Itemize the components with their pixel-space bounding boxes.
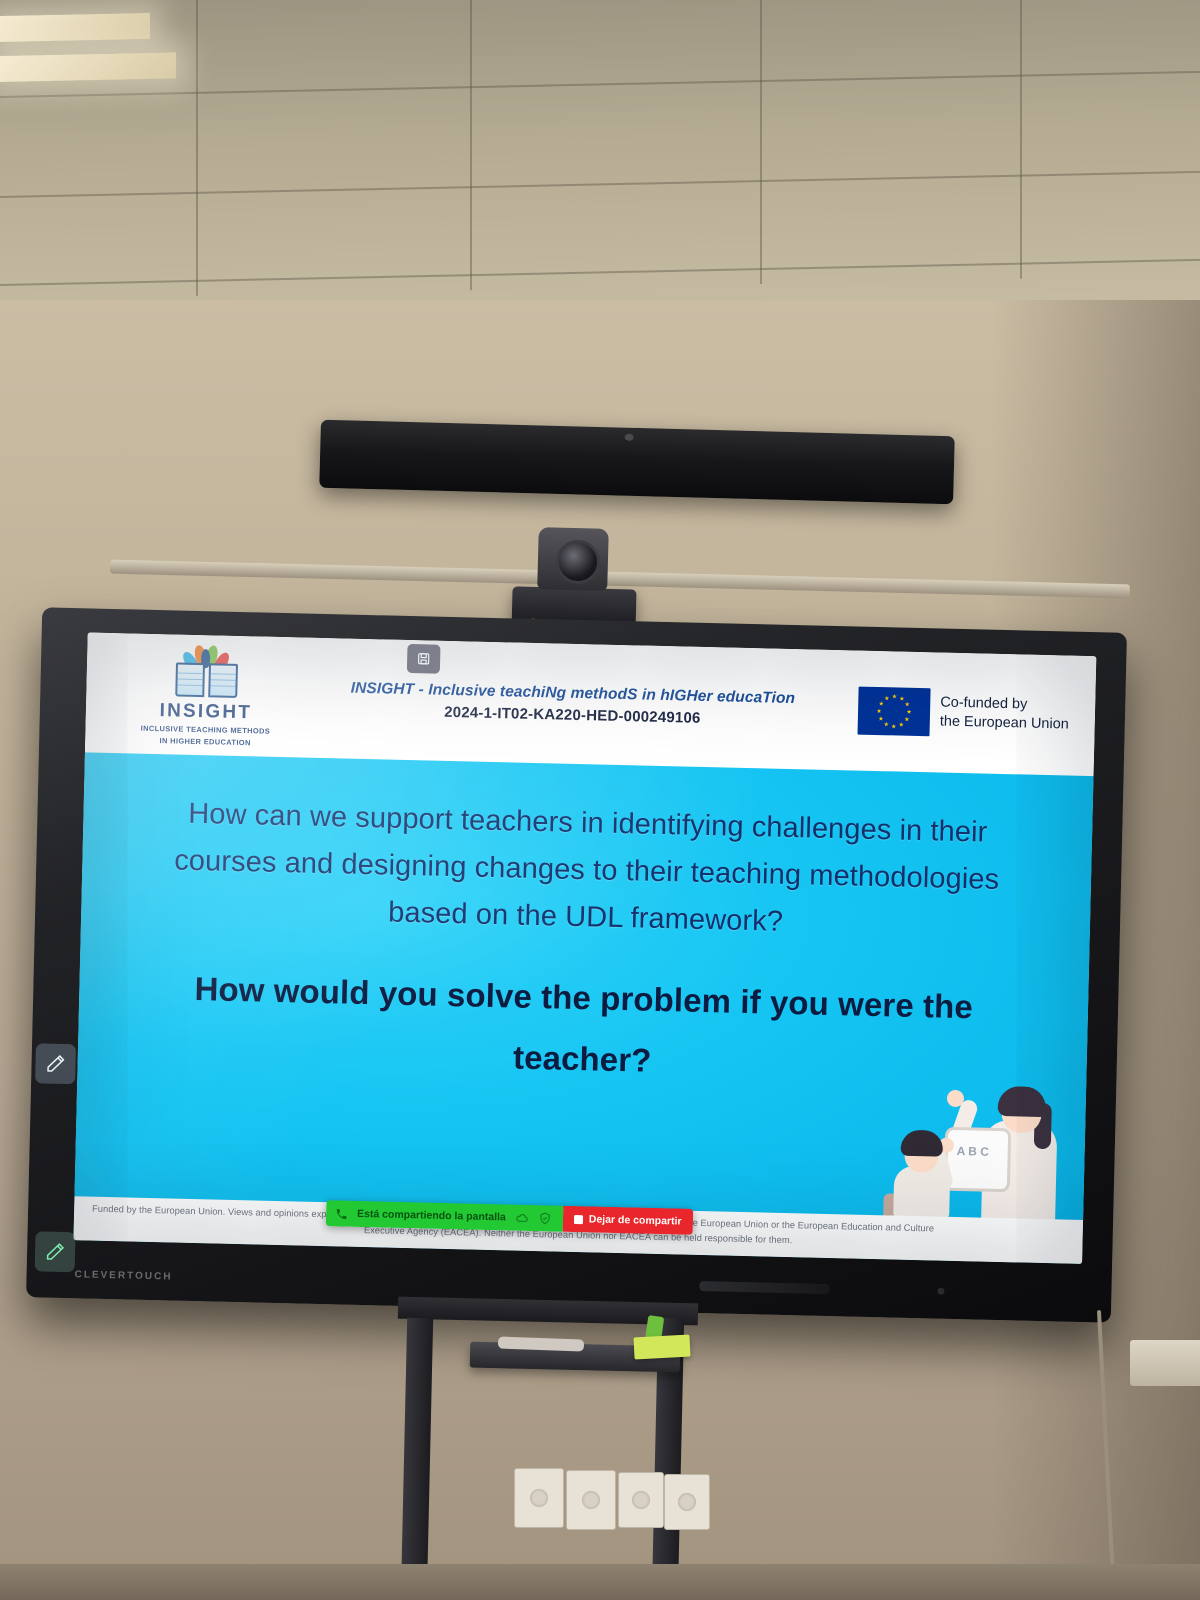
classroom-photo: CLEVERTOUCH <box>0 0 1200 1600</box>
wall-socket <box>514 1468 564 1528</box>
stop-square-icon <box>574 1215 583 1224</box>
question-context: How can we support teachers in identifyi… <box>139 790 1035 952</box>
phone-icon <box>335 1207 348 1220</box>
wall-side-panel <box>1130 1340 1200 1386</box>
interactive-display: CLEVERTOUCH <box>26 607 1127 1322</box>
cloud-icon[interactable] <box>515 1211 529 1225</box>
eu-star-icon <box>905 702 910 707</box>
stop-sharing-label: Dejar de compartir <box>589 1213 682 1227</box>
eu-star-icon <box>891 724 896 729</box>
eu-star-icon <box>877 708 882 713</box>
eu-star-icon <box>884 696 889 701</box>
eu-funding-line-2: the European Union <box>940 712 1069 734</box>
insight-logo-subtitle-2: IN HIGHER EDUCATION <box>159 736 250 748</box>
whiteboard-prop: A B C <box>944 1127 1011 1193</box>
eu-star-icon <box>907 709 912 714</box>
project-identity: INSIGHT - Inclusive teachiNg methodS in … <box>306 677 840 730</box>
whiteboard-text: A B C <box>957 1144 990 1159</box>
insight-logo-title: INSIGHT <box>159 700 252 724</box>
eu-funding-text: Co-funded by the European Union <box>940 694 1070 735</box>
eu-star-icon <box>884 722 889 727</box>
presentation-slide: INSIGHT INCLUSIVE TEACHING METHODS IN HI… <box>73 632 1096 1264</box>
eu-star-icon <box>899 722 904 727</box>
insight-logo-icon <box>175 643 238 698</box>
share-status-label: Está compartiendo la pantalla <box>357 1208 506 1224</box>
annotate-button-bottom[interactable] <box>35 1231 76 1272</box>
ceiling-lamp <box>0 13 150 42</box>
wall-socket <box>618 1472 664 1528</box>
save-floppy-icon <box>416 651 431 666</box>
display-screen-area: INSIGHT INCLUSIVE TEACHING METHODS IN HI… <box>73 632 1096 1264</box>
eu-star-icon <box>899 696 904 701</box>
pencil-annotate-icon <box>44 1052 67 1075</box>
stop-sharing-button[interactable]: Dejar de compartir <box>563 1206 693 1235</box>
slide-header: INSIGHT INCLUSIVE TEACHING METHODS IN HI… <box>85 632 1097 776</box>
power-led <box>938 1288 945 1295</box>
insight-logo: INSIGHT INCLUSIVE TEACHING METHODS IN HI… <box>105 641 307 750</box>
annotate-button-top[interactable] <box>35 1043 76 1084</box>
share-status-group[interactable]: Está compartiendo la pantalla <box>326 1200 563 1232</box>
baseboard <box>0 1564 1200 1600</box>
pencil-annotate-icon <box>44 1241 67 1264</box>
floating-toolbar-button[interactable] <box>407 644 441 674</box>
ceiling-lamp <box>0 52 176 82</box>
eu-flag-icon <box>858 687 931 737</box>
ir-sensor <box>699 1281 829 1294</box>
eu-star-icon <box>904 717 909 722</box>
slide-question-block: How can we support teachers in identifyi… <box>77 752 1093 1101</box>
eu-funding-badge: Co-funded by the European Union <box>839 686 1076 740</box>
sticky-note <box>633 1335 690 1360</box>
slide-body: How can we support teachers in identifyi… <box>73 752 1093 1264</box>
insight-logo-subtitle-1: INCLUSIVE TEACHING METHODS <box>141 724 271 737</box>
wall-socket <box>664 1474 710 1530</box>
ceiling <box>0 0 1200 330</box>
display-brand-label: CLEVERTOUCH <box>74 1269 172 1282</box>
eu-star-icon <box>879 701 884 706</box>
shield-icon[interactable] <box>538 1211 552 1225</box>
eu-star-icon <box>878 716 883 721</box>
eu-star-icon <box>892 694 897 699</box>
wall-socket <box>566 1470 616 1530</box>
